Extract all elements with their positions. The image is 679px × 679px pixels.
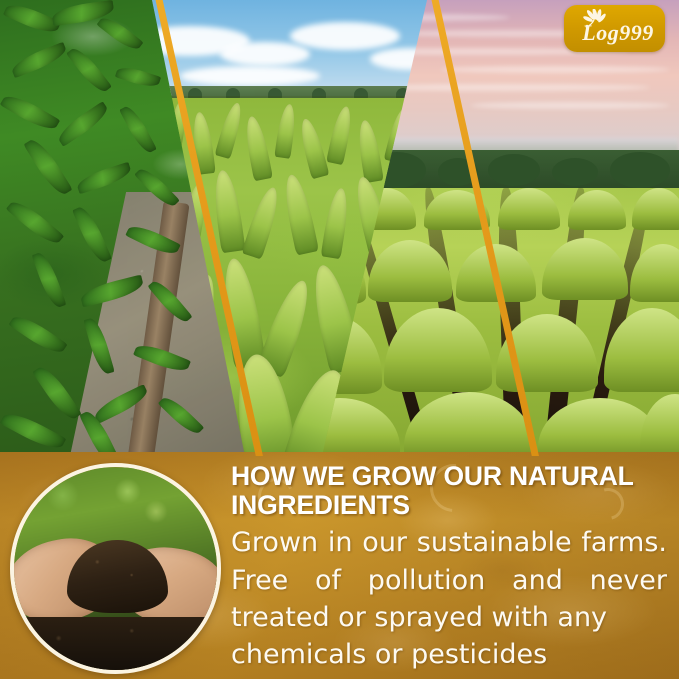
- panel-3-tree: [488, 154, 540, 186]
- brand-logo[interactable]: Log999: [564, 5, 665, 52]
- hands-holding-soil-image: [10, 463, 221, 674]
- soil-ground: [14, 617, 217, 670]
- band-text-block: HOW WE GROW OUR NATURAL INGREDIENTS Grow…: [231, 462, 667, 673]
- panel-3-cloud-streak: [470, 102, 670, 109]
- body-line-4: chemicals or pesticides: [231, 636, 667, 673]
- info-band: HOW WE GROW OUR NATURAL INGREDIENTS Grow…: [0, 452, 679, 679]
- panel-3-tree: [552, 158, 598, 186]
- logo-wordmark: Log999: [571, 22, 665, 44]
- headline: HOW WE GROW OUR NATURAL INGREDIENTS: [231, 462, 667, 520]
- panel-2-cloud: [290, 22, 400, 50]
- panel-3-tree: [610, 152, 670, 188]
- body-line-1: Grown in our sustainable farms.: [231, 527, 667, 558]
- panel-3-cloud-streak: [440, 66, 670, 73]
- product-info-banner: HOW WE GROW OUR NATURAL INGREDIENTS Grow…: [0, 0, 679, 679]
- photo-strip: [0, 0, 679, 456]
- body-copy: Grown in our sustainable farms. Free of …: [231, 524, 667, 673]
- body-line-2: Free of pollution and never: [231, 565, 667, 596]
- panel-2-cloud: [220, 42, 310, 66]
- panel-2-cloud: [180, 66, 320, 86]
- body-line-3: treated or sprayed with any: [231, 602, 607, 633]
